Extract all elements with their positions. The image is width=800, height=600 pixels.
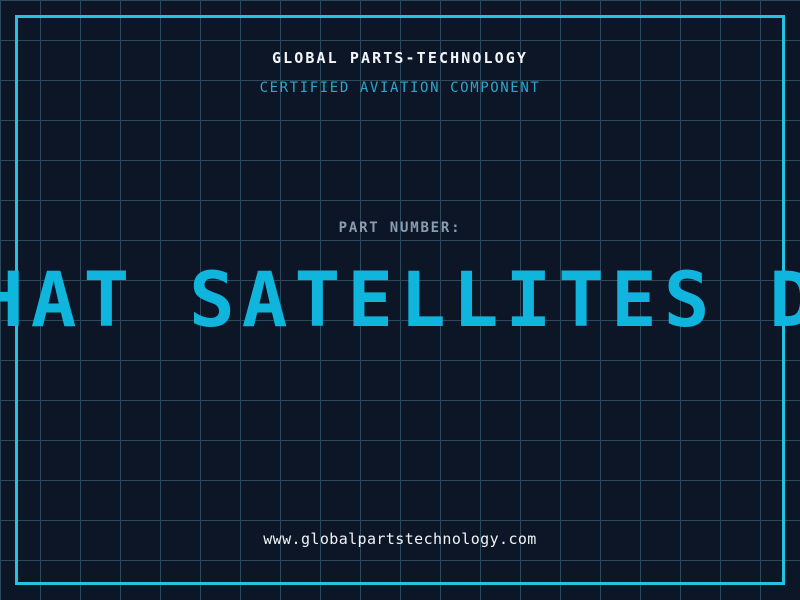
headline-clip-region: WHAT SATELLITES DO bbox=[0, 258, 800, 342]
blueprint-card: GLOBAL PARTS-TECHNOLOGY CERTIFIED AVIATI… bbox=[0, 0, 800, 600]
page-subtitle: CERTIFIED AVIATION COMPONENT bbox=[0, 80, 800, 96]
headline-text: WHAT SATELLITES DO bbox=[0, 258, 800, 342]
part-number-label: PART NUMBER: bbox=[0, 220, 800, 236]
page-title: GLOBAL PARTS-TECHNOLOGY bbox=[0, 49, 800, 67]
footer-website-url: www.globalpartstechnology.com bbox=[0, 530, 800, 548]
card-content: GLOBAL PARTS-TECHNOLOGY CERTIFIED AVIATI… bbox=[0, 0, 800, 600]
